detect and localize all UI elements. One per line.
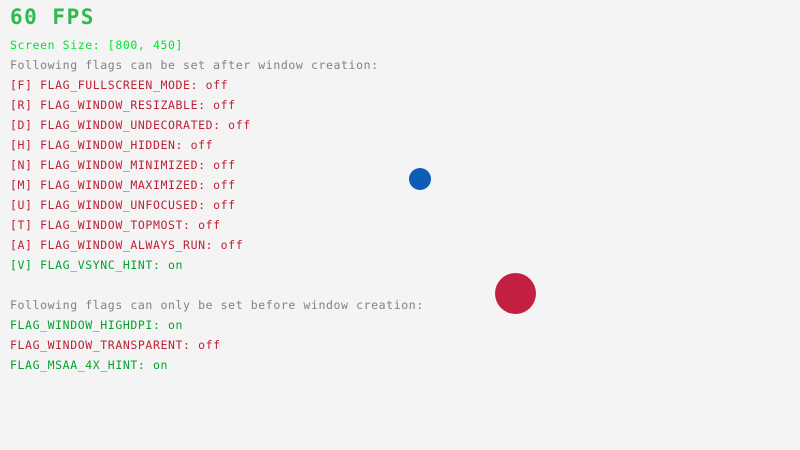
flag-row-flag-window-highdpi[interactable]: FLAG_WINDOW_HIGHDPI: on: [10, 318, 183, 332]
flag-row-flag-window-topmost[interactable]: [T] FLAG_WINDOW_TOPMOST: off: [10, 218, 221, 232]
flag-row-flag-vsync-hint[interactable]: [V] FLAG_VSYNC_HINT: on: [10, 258, 183, 272]
flag-row-flag-msaa-4x-hint[interactable]: FLAG_MSAA_4X_HINT: on: [10, 358, 168, 372]
flag-row-flag-fullscreen-mode[interactable]: [F] FLAG_FULLSCREEN_MODE: off: [10, 78, 228, 92]
flag-row-flag-window-hidden[interactable]: [H] FLAG_WINDOW_HIDDEN: off: [10, 138, 213, 152]
flag-row-flag-window-maximized[interactable]: [M] FLAG_WINDOW_MAXIMIZED: off: [10, 178, 236, 192]
flag-row-flag-window-undecorated[interactable]: [D] FLAG_WINDOW_UNDECORATED: off: [10, 118, 251, 132]
fps-counter: 60 FPS: [10, 5, 95, 29]
flag-row-flag-window-resizable[interactable]: [R] FLAG_WINDOW_RESIZABLE: off: [10, 98, 236, 112]
section-heading-after-creation: Following flags can be set after window …: [10, 58, 379, 72]
section-heading-before-creation: Following flags can only be set before w…: [10, 298, 424, 312]
flag-row-flag-window-unfocused[interactable]: [U] FLAG_WINDOW_UNFOCUSED: off: [10, 198, 236, 212]
screen-size-label: Screen Size: [800, 450]: [10, 38, 183, 52]
blue-ball-shape: [409, 168, 431, 190]
flag-row-flag-window-minimized[interactable]: [N] FLAG_WINDOW_MINIMIZED: off: [10, 158, 236, 172]
flag-row-flag-window-transparent[interactable]: FLAG_WINDOW_TRANSPARENT: off: [10, 338, 221, 352]
raylib-window-canvas[interactable]: 60 FPS Screen Size: [800, 450] Following…: [0, 0, 800, 450]
red-ball-shape: [495, 273, 536, 314]
flag-row-flag-window-always-run[interactable]: [A] FLAG_WINDOW_ALWAYS_RUN: off: [10, 238, 243, 252]
